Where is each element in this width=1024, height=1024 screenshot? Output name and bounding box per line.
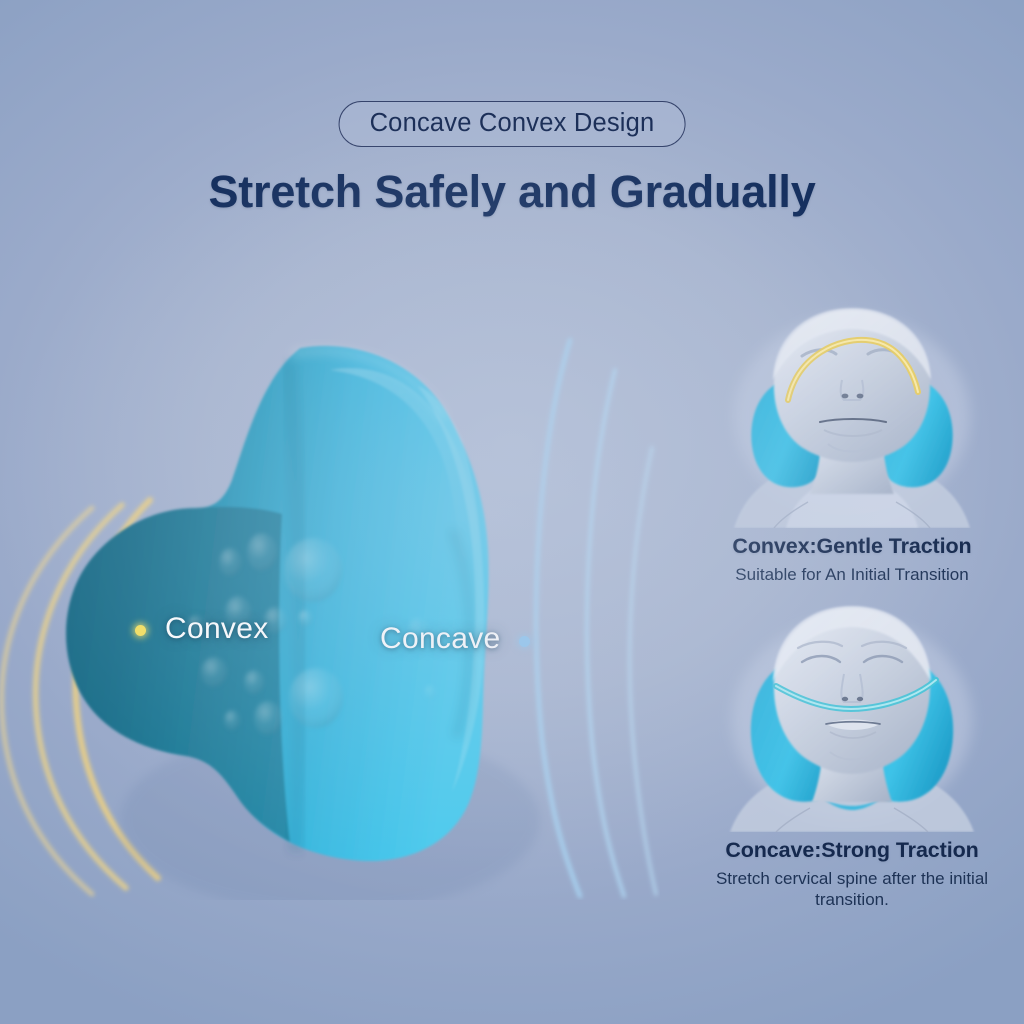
concave-marker-dot xyxy=(519,636,530,647)
concave-label: Concave xyxy=(380,622,501,656)
convex-caption-subtitle: Suitable for An Initial Transition xyxy=(690,564,1014,585)
infographic-canvas: Concave Convex Design Stretch Safely and… xyxy=(0,0,1024,1024)
concave-caption-subtitle: Stretch cervical spine after the initial… xyxy=(690,868,1014,911)
convex-label: Convex xyxy=(165,612,269,646)
page-title: Stretch Safely and Gradually xyxy=(208,166,815,218)
concave-traction-illustration xyxy=(690,600,1014,832)
panel-concave: Concave:Strong Traction Stretch cervical… xyxy=(690,600,1014,911)
pillow-graphic xyxy=(0,300,660,900)
right-wave-arcs xyxy=(536,340,656,896)
convex-traction-illustration xyxy=(690,296,1014,528)
concave-caption-title: Concave:Strong Traction xyxy=(690,838,1014,863)
design-badge: Concave Convex Design xyxy=(339,101,686,147)
convex-caption-title: Convex:Gentle Traction xyxy=(690,534,1014,559)
panel-convex: Convex:Gentle Traction Suitable for An I… xyxy=(690,296,1014,585)
product-illustration-area: Convex Concave xyxy=(0,300,660,900)
convex-marker-dot xyxy=(135,625,146,636)
pillow-body xyxy=(66,346,489,861)
